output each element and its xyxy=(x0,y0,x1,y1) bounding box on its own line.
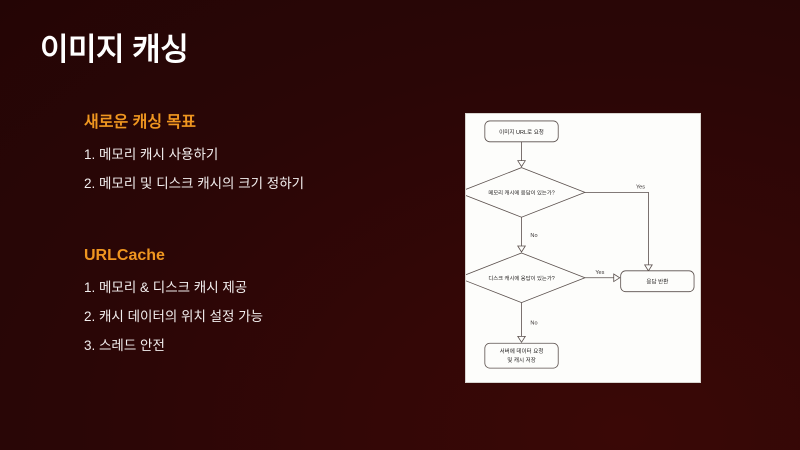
arrow-head-icon xyxy=(645,265,653,271)
caching-flowchart-svg: 이미지 URL로 요청 메모리 캐시에 응답이 있는가? Yes No 디스크 … xyxy=(466,114,700,382)
arrow-head-icon xyxy=(518,161,526,167)
arrow-head-icon xyxy=(518,336,526,342)
list-item: 1. 메모리 & 디스크 캐시 제공 xyxy=(84,279,424,297)
slide-canvas: 이미지 캐싱 새로운 캐싱 목표 1. 메모리 캐시 사용하기 2. 메모리 및… xyxy=(0,0,800,450)
flow-node-start: 이미지 URL로 요청 xyxy=(485,121,558,142)
list-urlcache-features: 1. 메모리 & 디스크 캐시 제공 2. 캐시 데이터의 위치 설정 가능 3… xyxy=(84,279,424,355)
flow-node-return-response: 응답 반환 xyxy=(621,271,694,292)
flow-node-start-label: 이미지 URL로 요청 xyxy=(499,128,544,136)
page-title: 이미지 캐싱 xyxy=(40,31,188,70)
flow-node-fetch-server: 서버에 데이터 요청 및 캐시 저장 xyxy=(485,343,558,368)
section-caching-goals: 새로운 캐싱 목표 1. 메모리 캐시 사용하기 2. 메모리 및 디스크 캐시… xyxy=(84,113,424,193)
list-item: 2. 메모리 및 디스크 캐시의 크기 정하기 xyxy=(84,175,424,193)
section-urlcache: URLCache 1. 메모리 & 디스크 캐시 제공 2. 캐시 데이터의 위… xyxy=(84,246,424,355)
flow-node-fetch-server-label-line2: 및 캐시 저장 xyxy=(507,356,536,364)
arrow-head-icon xyxy=(518,246,526,252)
flow-node-decision-memory-label: 메모리 캐시에 응답이 있는가? xyxy=(488,188,554,196)
flow-node-decision-disk-label: 디스크 캐시에 응답이 있는가? xyxy=(488,274,554,282)
flow-edge-label-memory-no: No xyxy=(530,233,537,239)
flow-edge-memory-yes xyxy=(585,192,648,264)
flow-edge-label-disk-no: No xyxy=(530,320,537,326)
section-heading-caching-goals: 새로운 캐싱 목표 xyxy=(84,113,424,134)
list-item: 1. 메모리 캐시 사용하기 xyxy=(84,146,424,164)
list-caching-goals: 1. 메모리 캐시 사용하기 2. 메모리 및 디스크 캐시의 크기 정하기 xyxy=(84,146,424,193)
arrow-head-icon xyxy=(614,274,620,282)
section-heading-urlcache: URLCache xyxy=(84,246,424,267)
flow-node-decision-disk: 디스크 캐시에 응답이 있는가? xyxy=(466,253,585,303)
caching-flowchart-panel: 이미지 URL로 요청 메모리 캐시에 응답이 있는가? Yes No 디스크 … xyxy=(465,113,701,383)
flow-edge-label-disk-yes: Yes xyxy=(595,270,604,276)
list-item: 2. 캐시 데이터의 위치 설정 가능 xyxy=(84,308,424,326)
list-item: 3. 스레드 안전 xyxy=(84,337,424,355)
flow-node-fetch-server-label-line1: 서버에 데이터 요청 xyxy=(500,347,544,355)
flow-edge-label-memory-yes: Yes xyxy=(636,184,645,190)
flow-node-return-response-label: 응답 반환 xyxy=(646,278,668,286)
flow-node-decision-memory: 메모리 캐시에 응답이 있는가? xyxy=(466,168,585,218)
flow-node-fetch-server-shape xyxy=(485,343,558,368)
